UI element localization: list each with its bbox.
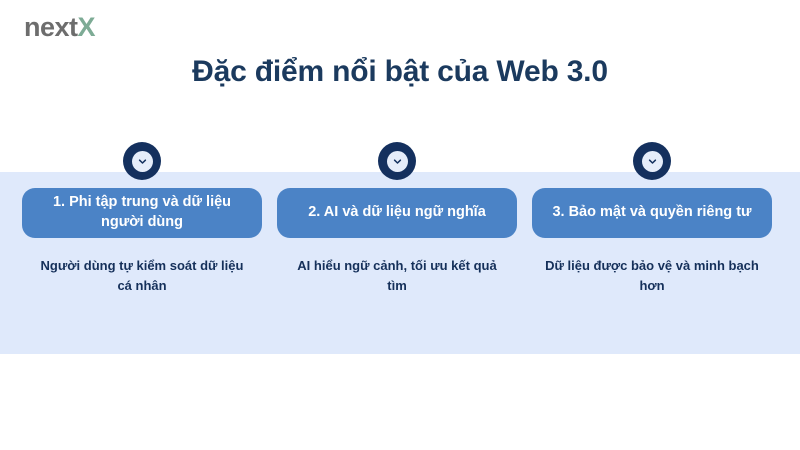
chevron-down-icon xyxy=(392,156,403,167)
step-badge-inner-3 xyxy=(642,151,663,172)
feature-description-3: Dữ liệu được bảo vệ và minh bạch hơn xyxy=(545,256,760,295)
chevron-down-icon xyxy=(647,156,658,167)
step-badge-inner-2 xyxy=(387,151,408,172)
feature-column-1: 1. Phi tập trung và dữ liệu người dùng N… xyxy=(22,0,262,295)
feature-card-3[interactable]: 3. Bảo mật và quyền riêng tư xyxy=(532,188,772,238)
feature-card-1[interactable]: 1. Phi tập trung và dữ liệu người dùng xyxy=(22,188,262,238)
feature-column-2: 2. AI và dữ liệu ngữ nghĩa AI hiểu ngữ c… xyxy=(277,0,517,295)
chevron-down-icon xyxy=(137,156,148,167)
feature-columns: 1. Phi tập trung và dữ liệu người dùng N… xyxy=(0,0,800,450)
step-badge-1[interactable] xyxy=(123,142,161,180)
step-badge-2[interactable] xyxy=(378,142,416,180)
step-badge-3[interactable] xyxy=(633,142,671,180)
feature-card-2[interactable]: 2. AI và dữ liệu ngữ nghĩa xyxy=(277,188,517,238)
feature-column-3: 3. Bảo mật và quyền riêng tư Dữ liệu đượ… xyxy=(532,0,772,295)
feature-description-2: AI hiểu ngữ cảnh, tối ưu kết quả tìm xyxy=(290,256,505,295)
step-badge-inner-1 xyxy=(132,151,153,172)
feature-description-1: Người dùng tự kiểm soát dữ liệu cá nhân xyxy=(35,256,250,295)
